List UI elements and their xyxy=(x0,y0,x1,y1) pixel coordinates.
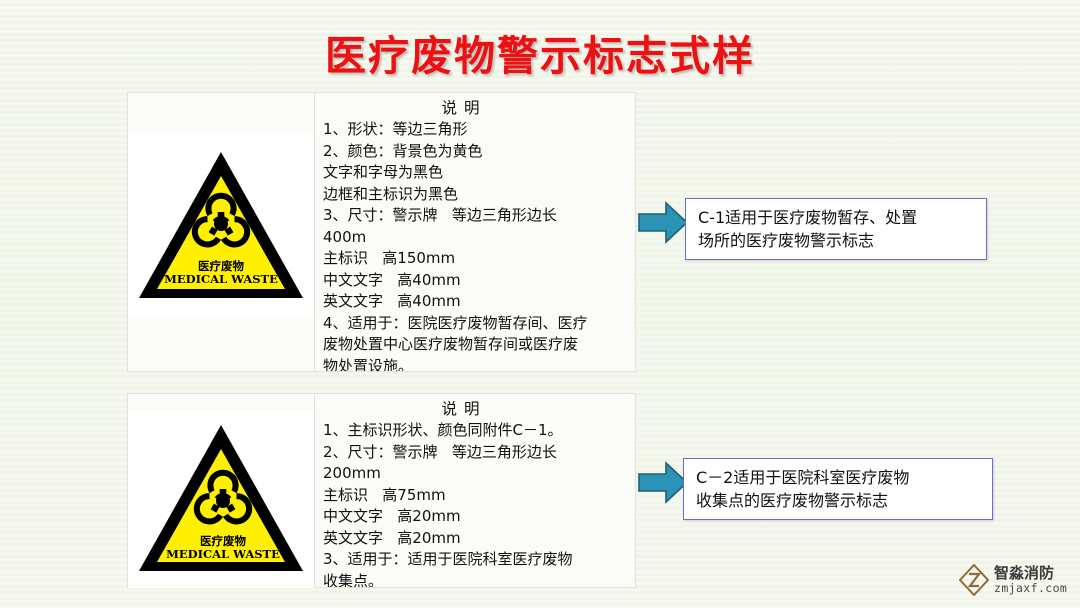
warning-sign-2: 医疗废物 MEDICAL WASTE xyxy=(128,410,314,588)
brand-logo-icon xyxy=(959,564,989,596)
spec-line: 主标识 高75mm xyxy=(323,485,629,507)
spec-line: 4、适用于：医院医疗废物暂存间、医疗 xyxy=(323,313,629,335)
spec-table-1: 医疗废物 MEDICAL WASTE 说 明 1、形状：等边三角形 2、颜色：背… xyxy=(127,92,636,372)
sign-cn-label: 医疗废物 xyxy=(198,259,244,273)
watermark-url: zmjaxf.com xyxy=(994,583,1067,595)
sign-cell-2: 医疗废物 MEDICAL WASTE xyxy=(128,394,315,587)
spec-line: 文字和字母为黑色 xyxy=(323,162,629,184)
right-arrow-icon-1 xyxy=(637,200,689,245)
watermark-text: 智淼消防 zmjaxf.com xyxy=(994,566,1067,595)
spec-heading-2: 说 明 xyxy=(323,399,629,419)
watermark: 智淼消防 zmjaxf.com xyxy=(959,564,1067,596)
spec-line: 英文文字 高20mm xyxy=(323,528,629,550)
sign-cell-1: 医疗废物 MEDICAL WASTE xyxy=(128,93,315,371)
spec-line: 中文文字 高20mm xyxy=(323,506,629,528)
spec-table-2: 医疗废物 MEDICAL WASTE 说 明 1、主标识形状、颜色同附件C－1。… xyxy=(127,393,636,588)
spec-line: 主标识 高150mm xyxy=(323,248,629,270)
spec-heading-1: 说 明 xyxy=(323,98,629,118)
callout-line: C-1适用于医疗废物暂存、处置 xyxy=(698,206,976,229)
callout-line: 收集点的医疗废物警示标志 xyxy=(696,489,982,512)
sign-en-label: MEDICAL WASTE xyxy=(164,272,278,286)
callout-line: 场所的医疗废物警示标志 xyxy=(698,229,976,252)
sign-cn-label: 医疗废物 xyxy=(200,534,246,548)
biohazard-triangle-sign-icon: 医疗废物 MEDICAL WASTE xyxy=(135,419,307,579)
spec-line: 2、颜色：背景色为黄色 xyxy=(323,141,629,163)
page-title: 医疗废物警示标志式样 xyxy=(0,22,1080,82)
spec-line: 废物处置中心医疗废物暂存间或医疗废 xyxy=(323,334,629,356)
sign-en-label: MEDICAL WASTE xyxy=(166,547,280,561)
right-arrow-icon-2 xyxy=(637,460,689,505)
spec-line: 2、尺寸：警示牌 等边三角形边长 xyxy=(323,442,629,464)
spec-line: 3、尺寸：警示牌 等边三角形边长 xyxy=(323,205,629,227)
spec-line: 200mm xyxy=(323,463,629,485)
warning-sign-1: 医疗废物 MEDICAL WASTE xyxy=(128,135,314,317)
spec-line: 3、适用于：适用于医院科室医疗废物 xyxy=(323,549,629,571)
slide-canvas: 医疗废物警示标志式样 xyxy=(0,0,1080,608)
biohazard-triangle-sign-icon: 医疗废物 MEDICAL WASTE xyxy=(135,146,307,306)
watermark-brand: 智淼消防 xyxy=(994,566,1067,581)
spec-line: 1、主标识形状、颜色同附件C－1。 xyxy=(323,420,629,442)
callout-box-2: C－2适用于医院科室医疗废物 收集点的医疗废物警示标志 xyxy=(683,458,993,520)
spec-line: 400m xyxy=(323,227,629,249)
callout-line: C－2适用于医院科室医疗废物 xyxy=(696,466,982,489)
spec-line: 收集点。 xyxy=(323,571,629,588)
spec-line: 英文文字 高40mm xyxy=(323,291,629,313)
spec-line: 1、形状：等边三角形 xyxy=(323,119,629,141)
spec-line: 边框和主标识为黑色 xyxy=(323,184,629,206)
spec-text-2: 说 明 1、主标识形状、颜色同附件C－1。 2、尺寸：警示牌 等边三角形边长 2… xyxy=(315,394,635,587)
spec-line: 中文文字 高40mm xyxy=(323,270,629,292)
spec-line: 物处置设施。 xyxy=(323,356,629,372)
callout-box-1: C-1适用于医疗废物暂存、处置 场所的医疗废物警示标志 xyxy=(685,198,987,260)
spec-text-1: 说 明 1、形状：等边三角形 2、颜色：背景色为黄色 文字和字母为黑色 边框和主… xyxy=(315,93,635,371)
